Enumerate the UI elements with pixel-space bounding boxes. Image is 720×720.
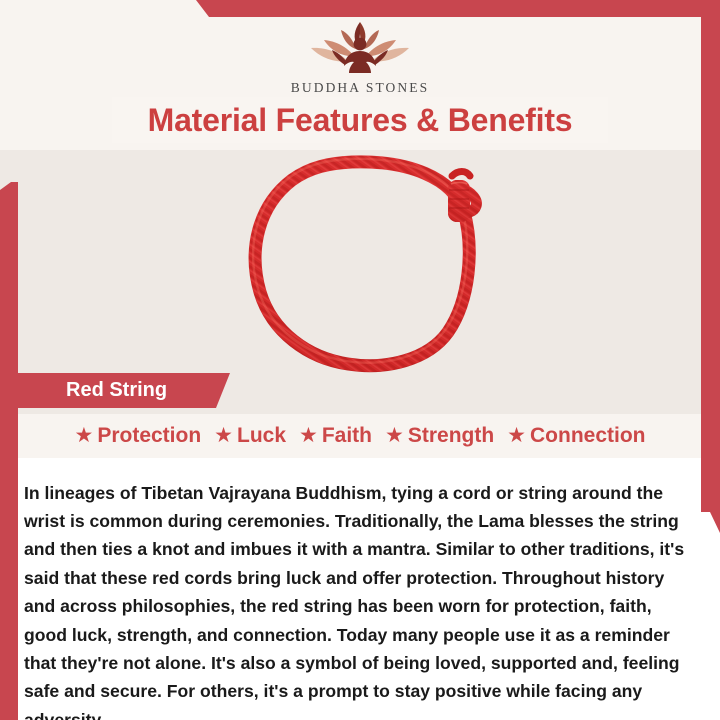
benefit-item-faith: ★ Faith — [299, 424, 372, 448]
description-paragraph: In lineages of Tibetan Vajrayana Buddhis… — [24, 479, 692, 720]
benefit-item-strength: ★ Strength — [385, 424, 494, 448]
benefit-item-connection: ★ Connection — [507, 424, 645, 448]
benefit-label: Luck — [237, 424, 286, 448]
product-image — [220, 150, 510, 375]
page-title: Material Features & Benefits — [148, 102, 573, 139]
product-label-banner: Red String — [14, 373, 230, 408]
benefit-label: Strength — [408, 424, 494, 448]
benefit-label: Faith — [322, 424, 372, 448]
star-icon: ★ — [75, 425, 94, 446]
star-icon: ★ — [385, 425, 404, 446]
star-icon: ★ — [507, 425, 526, 446]
benefits-list: ★ Protection ★ Luck ★ Faith ★ Strength ★… — [0, 418, 720, 454]
star-icon: ★ — [299, 425, 318, 446]
benefit-label: Protection — [97, 424, 201, 448]
page-title-banner: Material Features & Benefits — [112, 97, 608, 143]
lotus-meditation-icon — [301, 18, 419, 78]
benefit-item-protection: ★ Protection — [75, 424, 202, 448]
benefit-item-luck: ★ Luck — [214, 424, 286, 448]
product-label: Red String — [66, 379, 167, 402]
star-icon: ★ — [214, 425, 233, 446]
brand-name: BUDDHA STONES — [260, 80, 460, 96]
infographic-page: BUDDHA STONES Material Features & Benefi… — [0, 0, 720, 720]
benefit-label: Connection — [530, 424, 646, 448]
brand-logo: BUDDHA STONES — [260, 18, 460, 96]
